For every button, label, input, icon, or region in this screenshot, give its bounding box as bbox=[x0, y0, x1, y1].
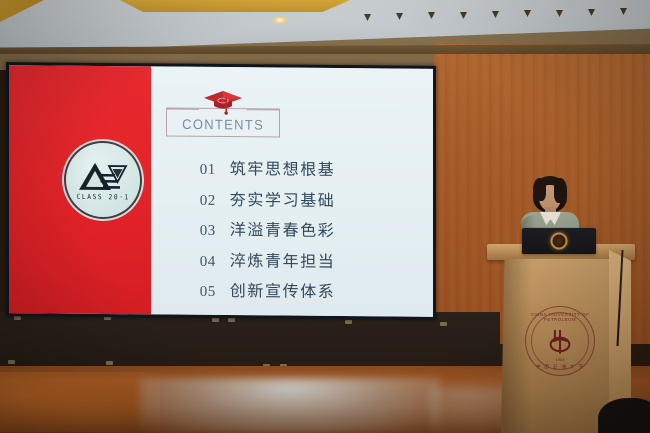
ceiling-spotlight bbox=[273, 16, 287, 24]
auditorium-scene: CLASS 20·1 CONTENTS bbox=[0, 0, 650, 433]
contents-title: CONTENTS bbox=[167, 116, 279, 133]
list-item: 04 淬炼青年担当 bbox=[200, 246, 433, 272]
presenter-hair-left bbox=[533, 178, 546, 201]
list-item: 03 洋溢青春色彩 bbox=[200, 216, 433, 242]
class-logo-emblem: CLASS 20·1 bbox=[66, 143, 140, 218]
ae-monogram-icon bbox=[78, 161, 128, 192]
university-emblem-english: CHINA UNIVERSITY OF PETROLEUM bbox=[526, 312, 594, 322]
slide-canvas: CLASS 20·1 CONTENTS bbox=[9, 65, 433, 317]
projection-screen: CLASS 20·1 CONTENTS bbox=[6, 62, 436, 320]
list-item-number: 05 bbox=[200, 284, 230, 301]
contents-header: CONTENTS bbox=[167, 89, 279, 138]
university-emblem-year: 1953 bbox=[526, 357, 594, 362]
foreground-shadow bbox=[598, 398, 650, 433]
laptop[interactable] bbox=[522, 228, 596, 254]
graduation-cap-icon bbox=[203, 89, 243, 115]
contents-list: 01 筑牢思想根基 02 夯实学习基础 03 洋溢青春色彩 04 淬炼青年担当 … bbox=[200, 155, 433, 310]
presenter-hair-right bbox=[554, 178, 567, 203]
list-item-number: 03 bbox=[200, 223, 230, 240]
stage-backdrop bbox=[0, 312, 500, 374]
list-item-number: 04 bbox=[200, 253, 230, 270]
list-item-label: 洋溢青春色彩 bbox=[230, 216, 336, 241]
list-item-number: 01 bbox=[200, 162, 230, 179]
list-item: 05 创新宣传体系 bbox=[200, 277, 433, 303]
list-item: 02 夯实学习基础 bbox=[200, 185, 433, 211]
list-item-label: 夯实学习基础 bbox=[230, 186, 336, 211]
list-item: 01 筑牢思想根基 bbox=[200, 155, 433, 181]
floor-screen-reflection bbox=[140, 378, 440, 433]
list-item-label: 筑牢思想根基 bbox=[230, 155, 336, 180]
laptop-logo-icon bbox=[551, 233, 568, 250]
list-item-label: 淬炼青年担当 bbox=[230, 247, 336, 272]
list-item-number: 02 bbox=[200, 192, 230, 209]
list-item-label: 创新宣传体系 bbox=[230, 277, 336, 302]
university-emblem: CHINA UNIVERSITY OF PETROLEUM 1953 中 国 石… bbox=[525, 306, 595, 376]
university-emblem-chinese: 中 国 石 油 大 学 bbox=[526, 364, 594, 370]
class-logo-text: CLASS 20·1 bbox=[77, 193, 130, 201]
ceiling-panel-center bbox=[120, 0, 350, 12]
soffit-notch-row bbox=[360, 12, 650, 28]
floor-warm-reflection bbox=[0, 372, 160, 432]
